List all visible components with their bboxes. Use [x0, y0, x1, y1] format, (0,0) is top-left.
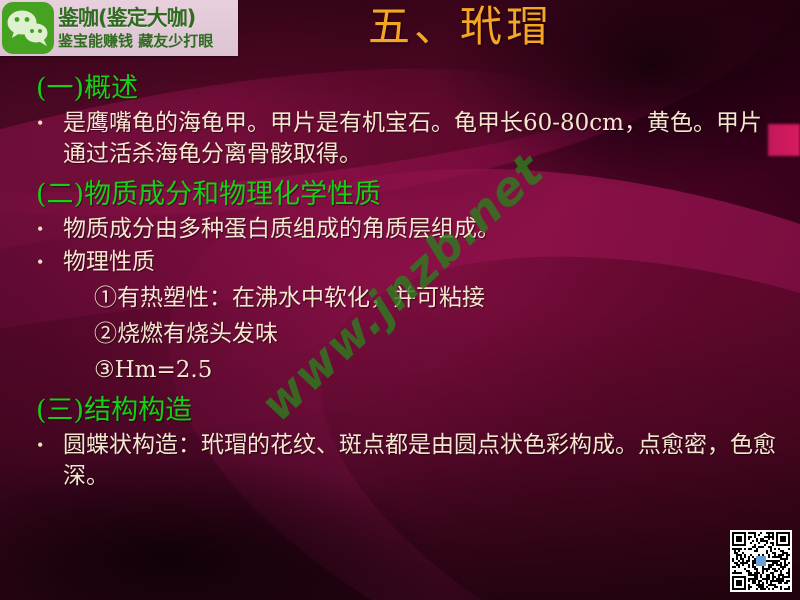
- bullet-item: •物质成分由多种蛋白质组成的角质层组成。: [34, 214, 800, 245]
- page-title: 五、玳瑁: [300, 2, 620, 52]
- bullet-text: 物理性质: [63, 247, 800, 278]
- sub-line: ①有热塑性：在沸水中软化，并可粘接: [94, 280, 800, 316]
- slide-canvas: 鉴咖(鉴定大咖) 鉴宝能赚钱 藏友少打眼 五、玳瑁 (一)概述•是鹰嘴龟的海龟甲…: [0, 0, 800, 600]
- section-heading: (三)结构构造: [36, 394, 800, 428]
- sub-line: ②烧燃有烧头发味: [94, 316, 800, 352]
- brand-logo-text: 鉴咖(鉴定大咖) 鉴宝能赚钱 藏友少打眼: [58, 0, 238, 56]
- qr-code[interactable]: [730, 530, 792, 592]
- bullet-text: 物质成分由多种蛋白质组成的角质层组成。: [63, 214, 800, 245]
- bullet-dot-icon: •: [34, 430, 63, 461]
- bullet-dot-icon: •: [34, 214, 63, 245]
- bullet-item: •是鹰嘴龟的海龟甲。甲片是有机宝石。龟甲长60-80cm，黄色。甲片通过活杀海龟…: [34, 108, 800, 170]
- section-heading: (一)概述: [36, 72, 800, 106]
- bullet-text: 是鹰嘴龟的海龟甲。甲片是有机宝石。龟甲长60-80cm，黄色。甲片通过活杀海龟分…: [63, 108, 800, 170]
- bullet-item: •物理性质: [34, 247, 800, 278]
- bullet-item: •圆蝶状构造：玳瑁的花纹、斑点都是由圆点状色彩构成。点愈密，色愈深。: [34, 430, 800, 492]
- section-heading: (二)物质成分和物理化学性质: [36, 178, 800, 212]
- wechat-icon: [2, 2, 54, 54]
- slide-content: (一)概述•是鹰嘴龟的海龟甲。甲片是有机宝石。龟甲长60-80cm，黄色。甲片通…: [0, 72, 800, 494]
- bullet-dot-icon: •: [34, 247, 63, 278]
- bullet-dot-icon: •: [34, 108, 63, 139]
- brand-subtitle: 鉴宝能赚钱 藏友少打眼: [58, 31, 236, 51]
- sub-line: ③Hm=2.5: [94, 352, 800, 388]
- brand-logo: 鉴咖(鉴定大咖) 鉴宝能赚钱 藏友少打眼: [0, 0, 238, 56]
- brand-title: 鉴咖(鉴定大咖): [58, 5, 236, 31]
- bullet-text: 圆蝶状构造：玳瑁的花纹、斑点都是由圆点状色彩构成。点愈密，色愈深。: [63, 430, 800, 492]
